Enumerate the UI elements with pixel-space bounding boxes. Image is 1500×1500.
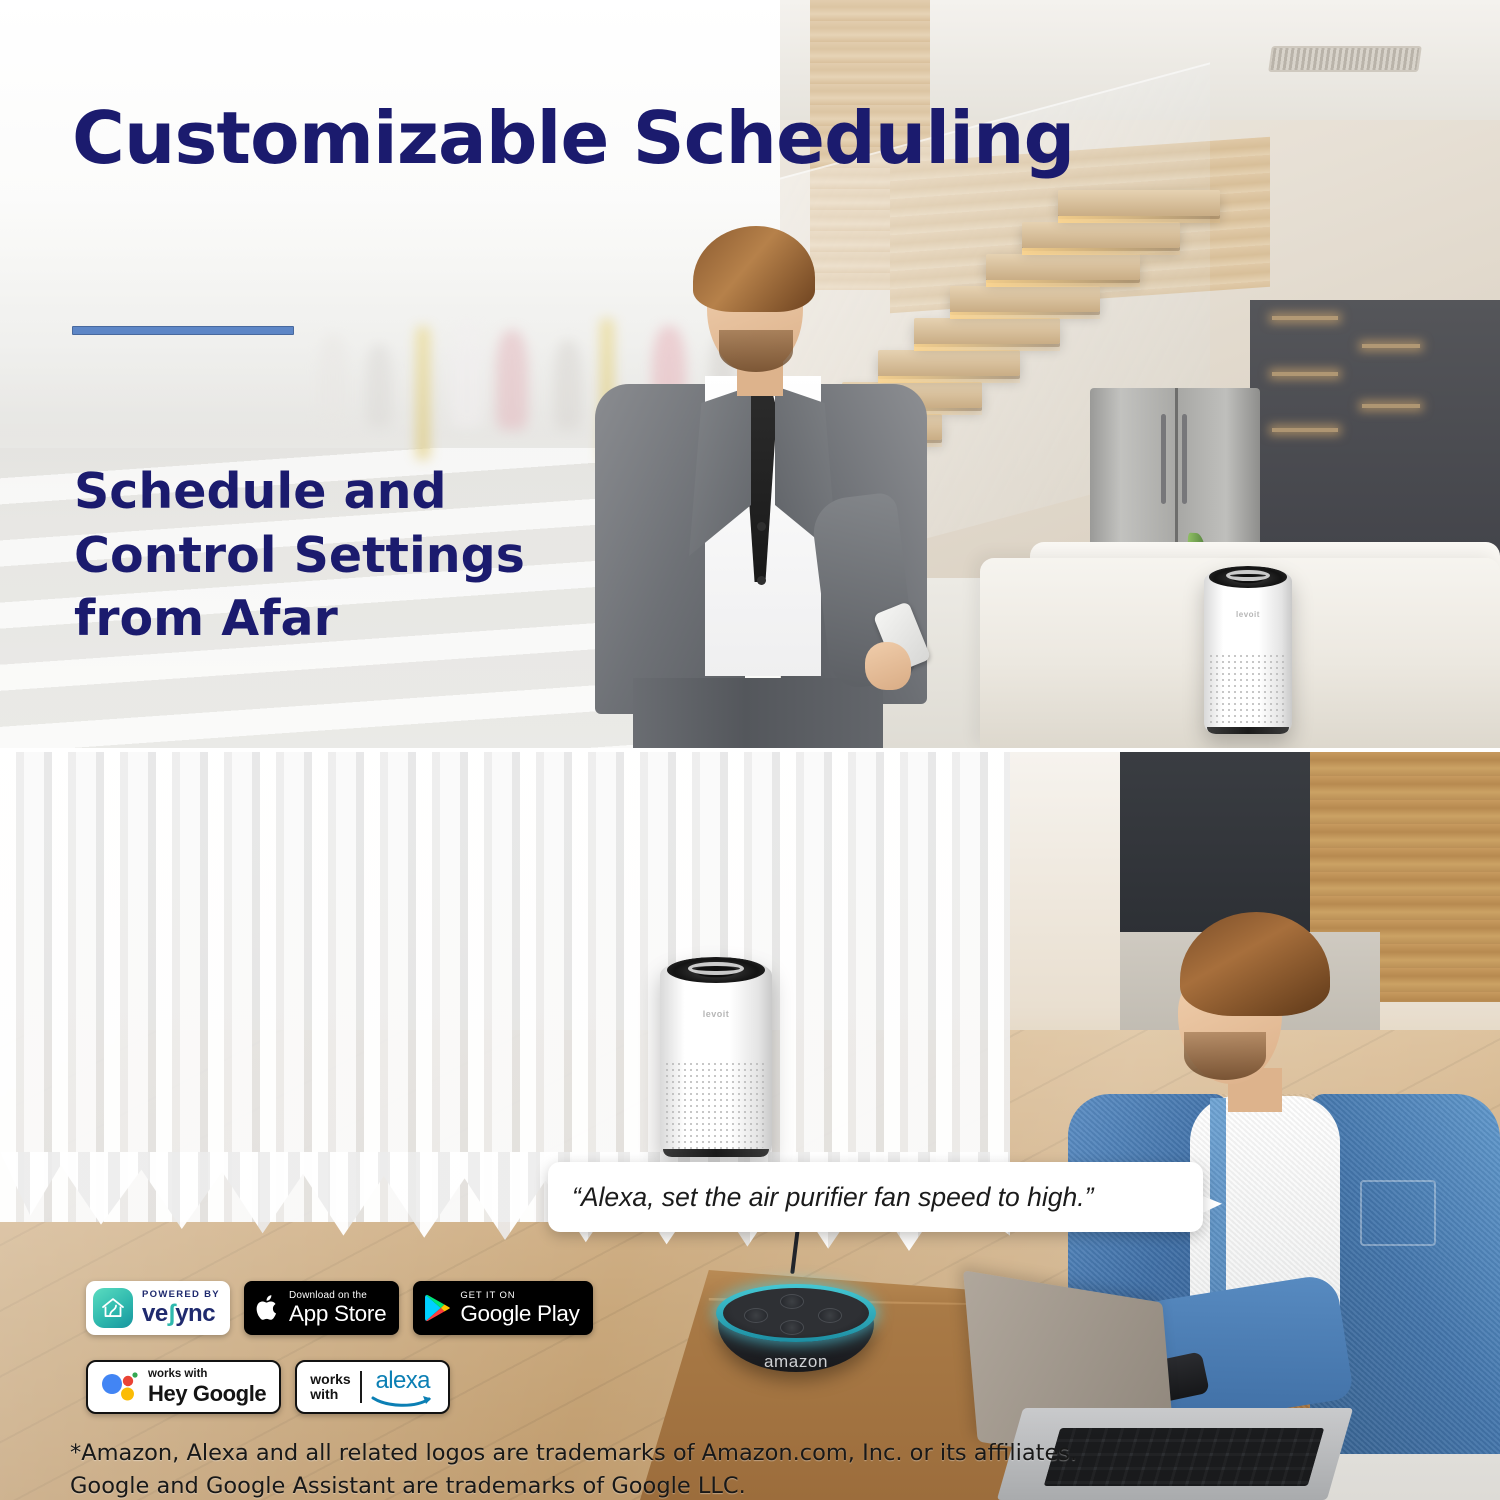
hey-google-label: Hey Google	[148, 1383, 266, 1405]
volume-up-button[interactable]	[780, 1294, 804, 1309]
legal-line-1: *Amazon, Alexa and all related logos are…	[70, 1437, 1077, 1470]
house-icon	[101, 1297, 125, 1318]
google-assistant-icon	[101, 1370, 139, 1404]
page-title: Customizable Scheduling	[72, 96, 1074, 180]
badge-divider	[360, 1371, 362, 1403]
laptop-keyboard	[1044, 1428, 1325, 1486]
google-play-badge[interactable]: GET IT ON Google Play	[413, 1281, 592, 1335]
product-feature-image: levoit Customizable Scheduling	[0, 0, 1500, 1500]
app-badges-row-1: POWERED BY veʃync Download on the App St…	[86, 1281, 593, 1335]
top-subheading-line-1: Schedule and	[74, 460, 525, 524]
google-play-small-label: GET IT ON	[460, 1291, 579, 1301]
works-with-alexa-badge[interactable]: works with alexa	[295, 1360, 449, 1414]
businessman-with-phone	[585, 226, 945, 748]
app-store-small-label: Download on the	[289, 1291, 386, 1301]
voice-assistant-badges-row-2: works with Hey Google works with alexa	[86, 1360, 450, 1414]
speech-bubble: “Alexa, set the air purifier fan speed t…	[548, 1162, 1203, 1232]
alexa-works-label: works	[310, 1372, 350, 1387]
amazon-echo-dot: amazon	[714, 1270, 878, 1382]
alexa-wordmark: alexa	[376, 1367, 430, 1395]
vesync-app-icon	[93, 1288, 133, 1328]
vesync-powered-by-label: POWERED BY	[142, 1290, 220, 1300]
apple-icon	[255, 1293, 280, 1323]
alexa-smile-icon	[371, 1395, 435, 1408]
legal-disclaimer: *Amazon, Alexa and all related logos are…	[70, 1437, 1077, 1500]
app-store-badge[interactable]: Download on the App Store	[244, 1281, 399, 1335]
ceiling-vent	[1268, 46, 1422, 72]
air-purifier-top: levoit	[1204, 566, 1292, 734]
top-subheading: Schedule and Control Settings from Afar	[74, 460, 525, 651]
vesync-wordmark: veʃync	[142, 1302, 220, 1326]
vesync-badge[interactable]: POWERED BY veʃync	[86, 1281, 230, 1335]
volume-down-button[interactable]	[780, 1320, 804, 1335]
action-button[interactable]	[818, 1308, 842, 1323]
top-subheading-line-3: from Afar	[74, 587, 525, 651]
hey-google-small-label: works with	[148, 1369, 266, 1381]
speech-bubble-text: “Alexa, set the air purifier fan speed t…	[572, 1182, 1093, 1213]
google-play-label: Google Play	[460, 1303, 579, 1326]
top-panel: levoit Customizable Scheduling	[0, 0, 1500, 748]
hey-google-badge[interactable]: works with Hey Google	[86, 1360, 281, 1414]
kitchen-upper-cabinets	[1250, 300, 1500, 560]
alexa-with-label: with	[310, 1387, 350, 1402]
google-play-icon	[424, 1293, 451, 1323]
legal-line-2: Google and Google Assistant are trademar…	[70, 1470, 1077, 1500]
sheer-curtains	[0, 752, 1010, 1222]
title-divider	[72, 326, 294, 335]
air-purifier-bottom: levoit	[660, 957, 772, 1157]
top-subheading-line-2: Control Settings	[74, 524, 525, 588]
microphone-off-button[interactable]	[744, 1308, 768, 1323]
amazon-wordmark: amazon	[714, 1352, 878, 1372]
app-store-label: App Store	[289, 1303, 386, 1326]
